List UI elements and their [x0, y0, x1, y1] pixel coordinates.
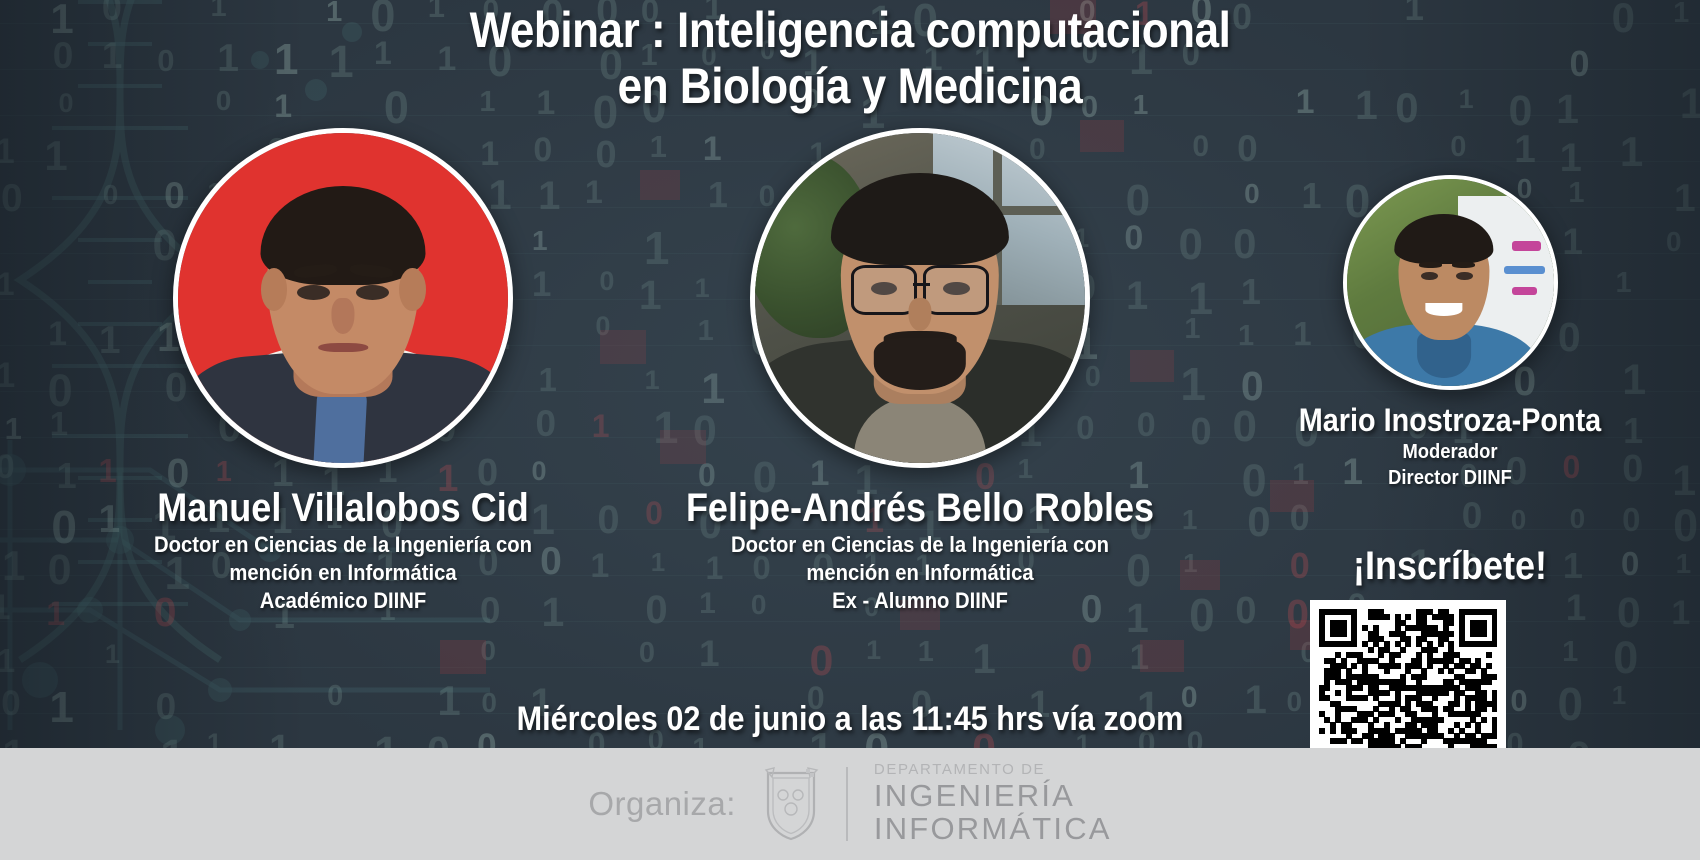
avatar-speaker-1	[173, 128, 513, 468]
footer-bar: Organiza: DEPARTAMENTO DE INGENIERÍA INF…	[0, 748, 1700, 860]
page-title: Webinar : Inteligencia computacional en …	[102, 2, 1598, 114]
speaker-card-2: Felipe-Andrés Bello Robles Doctor en Cie…	[640, 128, 1200, 615]
moderator-name: Mario Inostroza-Ponta	[1252, 402, 1648, 439]
speaker-2-name: Felipe-Andrés Bello Robles	[668, 486, 1172, 531]
webinar-poster: 1011010000110010010110101111100100111010…	[0, 0, 1700, 860]
dept-name-line-2: INFORMÁTICA	[874, 813, 1112, 846]
speaker-1-line-3: Académico DIINF	[85, 587, 600, 615]
title-line-1: Webinar : Inteligencia computacional	[470, 2, 1231, 58]
speaker-1-line-2: mención en Informática	[85, 559, 600, 587]
dept-name-line-1: INGENIERÍA	[874, 780, 1112, 813]
moderator-title: Director DIINF	[1248, 465, 1653, 491]
speaker-2-line-3: Ex - Alumno DIINF	[662, 587, 1177, 615]
dept-eyebrow: DEPARTAMENTO DE	[874, 762, 1112, 777]
avatar-speaker-2	[750, 128, 1090, 468]
portrait-mario-inostroza-ponta	[1347, 179, 1554, 386]
university-shield-icon	[762, 767, 820, 841]
speaker-2-line-1: Doctor en Ciencias de la Ingeniería con	[662, 531, 1177, 559]
portrait-felipe-andres-bello-robles	[755, 133, 1085, 463]
moderator-role: Moderador	[1248, 439, 1653, 465]
speaker-2-line-2: mención en Informática	[662, 559, 1177, 587]
moderator-card: Mario Inostroza-Ponta Moderador Director…	[1230, 175, 1670, 491]
avatar-moderator	[1343, 175, 1558, 390]
footer-divider	[846, 767, 848, 841]
organiza-label: Organiza:	[588, 785, 736, 823]
register-cta-text: ¡Inscríbete!	[1252, 544, 1648, 589]
department-logo-text: DEPARTAMENTO DE INGENIERÍA INFORMÁTICA	[874, 762, 1112, 846]
speaker-1-line-1: Doctor en Ciencias de la Ingeniería con	[85, 531, 600, 559]
speaker-1-name: Manuel Villalobos Cid	[91, 486, 595, 531]
speaker-card-1: Manuel Villalobos Cid Doctor en Ciencias…	[63, 128, 623, 615]
portrait-manuel-villalobos-cid	[178, 133, 508, 463]
title-line-2: en Biología y Medicina	[102, 58, 1598, 114]
